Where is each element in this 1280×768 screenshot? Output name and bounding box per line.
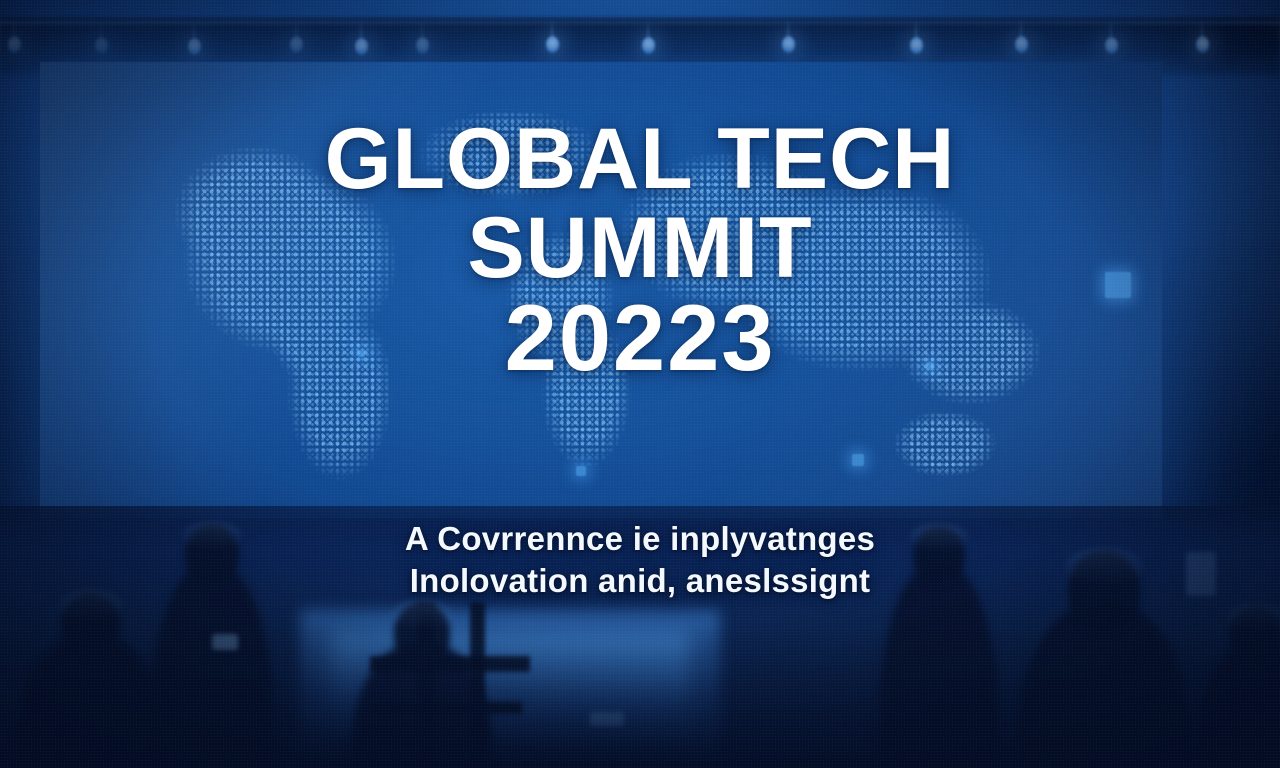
conference-photo: GLOBAL TECH SUMMIT 20223 A Covrrennce ie… [0,0,1280,768]
stage-light-9 [782,36,795,53]
stage-light-11 [1015,36,1028,53]
stage-light-10 [910,37,923,54]
stage-light-2 [95,37,108,54]
title-line-1: GLOBAL TECH [0,118,1280,201]
title-line-2: SUMMIT [0,207,1280,290]
stage-light-13 [1196,36,1209,53]
stage-light-halo [995,22,1049,68]
stage-light-halo [526,22,580,68]
stage-light-5 [355,38,368,55]
stage-light-halo [762,22,816,68]
subtitle-line-2: Inolovation anid, aneslssignt [0,560,1280,602]
stage-light-12 [1105,37,1118,54]
stage-light-1 [8,36,21,53]
stage-light-halo [1176,22,1230,68]
title-year: 20223 [0,293,1280,383]
presentation-title-block: GLOBAL TECH SUMMIT 20223 [0,118,1280,383]
subtitle-line-1: A Covrrennce ie inplyvatnges [0,518,1280,560]
stage-light-halo [270,22,324,68]
stage-light-8 [642,37,655,54]
stage-light-4 [290,36,303,53]
stage-light-6 [416,37,429,54]
stage-light-7 [546,36,559,53]
stage-light-3 [188,38,201,55]
presentation-subtitle-block: A Covrrennce ie inplyvatnges Inolovation… [0,518,1280,602]
